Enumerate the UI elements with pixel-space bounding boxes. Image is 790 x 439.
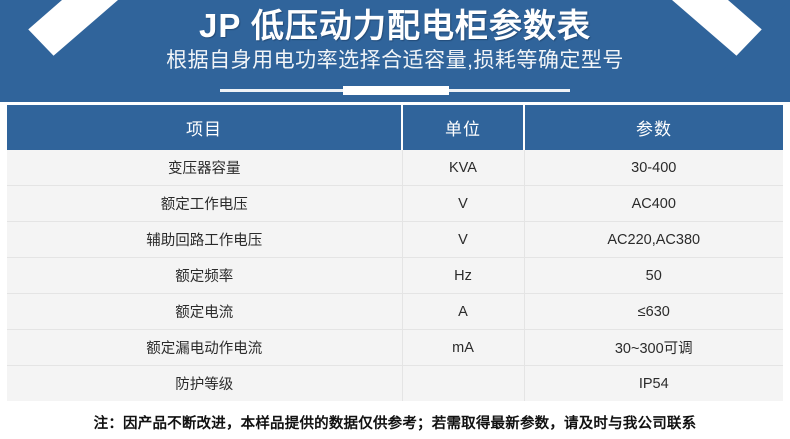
cell-unit: A [402,294,524,330]
cell-item: 辅助回路工作电压 [7,222,402,258]
cell-unit: mA [402,330,524,366]
cell-item: 防护等级 [7,366,402,402]
decorative-rule-center [343,86,449,95]
cell-param: AC220,AC380 [524,222,783,258]
cell-param: AC400 [524,186,783,222]
footer-note: 注：因产品不断改进，本样品提供的数据仅供参考；若需取得最新参数，请及时与我公司联… [0,409,790,439]
column-header-unit: 单位 [402,105,524,150]
table-row: 辅助回路工作电压 V AC220,AC380 [7,222,783,258]
cell-item: 额定电流 [7,294,402,330]
cell-param: ≤630 [524,294,783,330]
table-body: 变压器容量 KVA 30-400 额定工作电压 V AC400 辅助回路工作电压… [7,150,783,401]
cell-unit [402,366,524,402]
specifications-table: 项目 单位 参数 变压器容量 KVA 30-400 额定工作电压 V AC400… [7,105,783,401]
table-row: 额定频率 Hz 50 [7,258,783,294]
page-subtitle: 根据自身用电功率选择合适容量,损耗等确定型号 [0,46,790,76]
decorative-rule [0,86,790,95]
table-row: 变压器容量 KVA 30-400 [7,150,783,186]
page-title: JP 低压动力配电柜参数表 [0,6,790,46]
header-banner: JP 低压动力配电柜参数表 根据自身用电功率选择合适容量,损耗等确定型号 [0,0,790,102]
cell-param: 30~300可调 [524,330,783,366]
spec-sheet-page: JP 低压动力配电柜参数表 根据自身用电功率选择合适容量,损耗等确定型号 项目 … [0,0,790,439]
column-header-param: 参数 [524,105,783,150]
cell-item: 额定工作电压 [7,186,402,222]
column-header-item: 项目 [7,105,402,150]
table-row: 额定漏电动作电流 mA 30~300可调 [7,330,783,366]
cell-item: 变压器容量 [7,150,402,186]
table-row: 额定工作电压 V AC400 [7,186,783,222]
cell-item: 额定漏电动作电流 [7,330,402,366]
cell-param: 30-400 [524,150,783,186]
cell-unit: V [402,222,524,258]
cell-unit: V [402,186,524,222]
cell-unit: KVA [402,150,524,186]
table-row: 防护等级 IP54 [7,366,783,402]
table-header-row: 项目 单位 参数 [7,105,783,150]
cell-param: IP54 [524,366,783,402]
banner-text-block: JP 低压动力配电柜参数表 根据自身用电功率选择合适容量,损耗等确定型号 [0,0,790,76]
table-row: 额定电流 A ≤630 [7,294,783,330]
cell-param: 50 [524,258,783,294]
cell-unit: Hz [402,258,524,294]
cell-item: 额定频率 [7,258,402,294]
